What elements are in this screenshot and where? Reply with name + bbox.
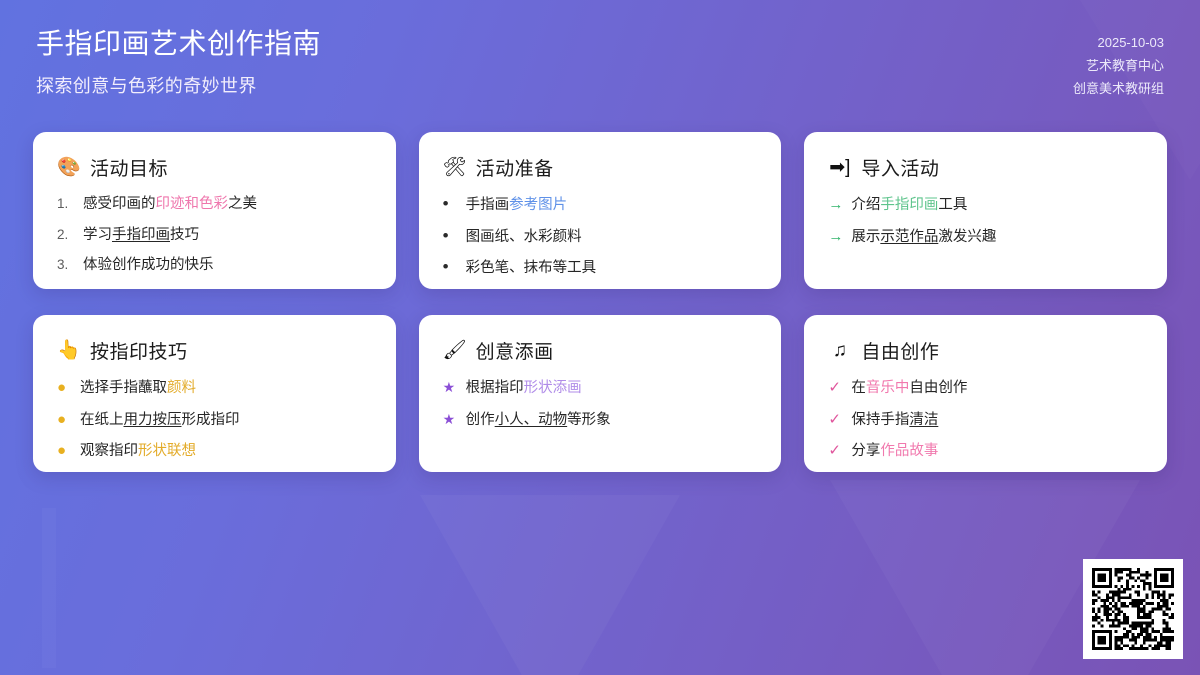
list-item: ✓在音乐中自由创作: [828, 378, 1143, 399]
tools-icon: 🛠: [443, 158, 466, 177]
card-header: 🖌创意添画: [443, 337, 758, 364]
card-music-note: ♫自由创作✓在音乐中自由创作✓保持手指清洁✓分享作品故事: [804, 315, 1167, 472]
text-segment: 自由创作: [909, 380, 967, 396]
list-marker: ✓: [828, 410, 843, 430]
card-tools: 🛠活动准备•手指画参考图片•图画纸、水彩颜料•彩色笔、抹布等工具: [419, 132, 782, 289]
text-segment: 创作: [466, 412, 495, 428]
arrow-into-bracket-icon: ➡]: [828, 158, 851, 177]
list-marker: •: [443, 227, 458, 244]
card-item-list: ●选择手指蘸取颜料●在纸上用力按压形成指印●观察指印形状联想: [57, 378, 372, 462]
list-item-text: 在音乐中自由创作: [851, 379, 967, 399]
list-item: →展示示范作品激发兴趣: [828, 227, 1143, 248]
text-segment: 形状联想: [138, 443, 196, 459]
text-segment: 之美: [228, 196, 257, 212]
list-marker: ★: [443, 378, 458, 397]
list-item: •手指画参考图片: [443, 195, 758, 216]
list-item: ●观察指印形状联想: [57, 441, 372, 462]
list-marker: •: [443, 195, 458, 212]
list-marker: ✓: [828, 441, 843, 461]
text-segment: 感受印画的: [83, 196, 156, 212]
music-note-icon: ♫: [828, 341, 851, 360]
text-segment: 工具: [938, 197, 967, 213]
list-marker: 2.: [57, 226, 75, 244]
card-header: ♫自由创作: [828, 337, 1143, 364]
text-segment: 介绍: [851, 197, 880, 213]
text-segment: 观察指印: [80, 443, 138, 459]
text-segment: 清洁: [909, 412, 938, 428]
page-title: 手指印画艺术创作指南: [36, 26, 321, 62]
list-item: •彩色笔、抹布等工具: [443, 258, 758, 279]
text-segment: 手指印画: [112, 227, 170, 243]
text-segment: 示范作品: [880, 229, 938, 245]
card-header: 🛠活动准备: [443, 154, 758, 181]
text-segment: 分享: [851, 443, 880, 459]
page-header: 手指印画艺术创作指南 探索创意与色彩的奇妙世界 2025-10-03 艺术教育中…: [0, 0, 1200, 132]
text-segment: 体验创作成功的快乐: [83, 257, 214, 273]
qr-code[interactable]: [1083, 559, 1183, 659]
card-item-list: →介绍手指印画工具→展示示范作品激发兴趣: [828, 195, 1143, 247]
card-title: 活动准备: [476, 154, 554, 181]
palette-icon: 🎨: [57, 158, 80, 177]
text-segment: 在: [851, 380, 866, 396]
paintbrush-icon: 🖌: [443, 341, 466, 360]
card-paintbrush: 🖌创意添画★根据指印形状添画★创作小人、动物等形象: [419, 315, 782, 472]
list-item: ✓分享作品故事: [828, 441, 1143, 462]
list-marker: 1.: [57, 195, 75, 213]
card-title: 活动目标: [90, 154, 168, 181]
text-segment: 颜料: [167, 380, 196, 396]
card-item-list: •手指画参考图片•图画纸、水彩颜料•彩色笔、抹布等工具: [443, 195, 758, 279]
text-segment: 作品故事: [880, 443, 938, 459]
list-item-text: 彩色笔、抹布等工具: [466, 259, 597, 279]
list-item-text: 观察指印形状联想: [80, 442, 196, 462]
list-item: 2.学习手指印画技巧: [57, 226, 372, 246]
card-header: 🎨活动目标: [57, 154, 372, 181]
text-segment: 在纸上: [80, 412, 124, 428]
list-marker: →: [828, 227, 843, 247]
list-item: 3.体验创作成功的快乐: [57, 256, 372, 276]
list-marker: 3.: [57, 256, 75, 274]
text-segment: 手指印画: [880, 197, 938, 213]
text-segment: 彩色笔、抹布等工具: [466, 260, 597, 276]
list-marker: →: [828, 195, 843, 215]
list-item-text: 创作小人、动物等形象: [466, 411, 611, 431]
cards-grid: 🎨活动目标1.感受印画的印迹和色彩之美2.学习手指印画技巧3.体验创作成功的快乐…: [33, 132, 1167, 472]
text-segment: 等形象: [567, 412, 611, 428]
list-item: →介绍手指印画工具: [828, 195, 1143, 216]
text-segment: 小人、动物: [495, 412, 568, 428]
card-header: ➡]导入活动: [828, 154, 1143, 181]
list-item-text: 保持手指清洁: [851, 411, 938, 431]
card-item-list: ✓在音乐中自由创作✓保持手指清洁✓分享作品故事: [828, 378, 1143, 462]
list-item-text: 介绍手指印画工具: [851, 196, 967, 216]
fingerprint-icon: 👆: [57, 341, 80, 360]
card-title: 自由创作: [861, 337, 939, 364]
text-segment: 印迹和色彩: [156, 196, 229, 212]
text-segment: 保持手指: [851, 412, 909, 428]
text-segment: 形成指印: [182, 412, 240, 428]
list-marker: ●: [57, 410, 72, 430]
list-item: ★创作小人、动物等形象: [443, 410, 758, 431]
text-segment: 学习: [83, 227, 112, 243]
text-segment: 形状添画: [524, 380, 582, 396]
list-item-text: 展示示范作品激发兴趣: [851, 228, 996, 248]
text-segment: 展示: [851, 229, 880, 245]
list-marker: ●: [57, 441, 72, 461]
text-segment: 根据指印: [466, 380, 524, 396]
text-segment: 参考图片: [509, 197, 567, 213]
list-item-text: 感受印画的印迹和色彩之美: [83, 195, 257, 215]
list-item: •图画纸、水彩颜料: [443, 227, 758, 248]
header-titles: 手指印画艺术创作指南 探索创意与色彩的奇妙世界: [36, 26, 321, 98]
list-item: ●选择手指蘸取颜料: [57, 378, 372, 399]
card-arrow-into-bracket: ➡]导入活动→介绍手指印画工具→展示示范作品激发兴趣: [804, 132, 1167, 289]
card-header: 👆按指印技巧: [57, 337, 372, 364]
list-item: ✓保持手指清洁: [828, 410, 1143, 431]
list-item: 1.感受印画的印迹和色彩之美: [57, 195, 372, 215]
text-segment: 选择手指蘸取: [80, 380, 167, 396]
header-meta: 2025-10-03 艺术教育中心 创意美术教研组: [1073, 26, 1164, 100]
card-title: 按指印技巧: [90, 337, 188, 364]
text-segment: 技巧: [170, 227, 199, 243]
list-item-text: 根据指印形状添画: [466, 379, 582, 399]
card-palette: 🎨活动目标1.感受印画的印迹和色彩之美2.学习手指印画技巧3.体验创作成功的快乐: [33, 132, 396, 289]
list-item-text: 选择手指蘸取颜料: [80, 379, 196, 399]
text-segment: 音乐中: [866, 380, 910, 396]
card-title: 创意添画: [476, 337, 554, 364]
list-item-text: 手指画参考图片: [466, 196, 568, 216]
page-subtitle: 探索创意与色彩的奇妙世界: [36, 72, 321, 98]
list-item: ★根据指印形状添画: [443, 378, 758, 399]
card-fingerprint: 👆按指印技巧●选择手指蘸取颜料●在纸上用力按压形成指印●观察指印形状联想: [33, 315, 396, 472]
card-item-list: 1.感受印画的印迹和色彩之美2.学习手指印画技巧3.体验创作成功的快乐: [57, 195, 372, 276]
header-org: 艺术教育中心: [1073, 55, 1164, 78]
header-date: 2025-10-03: [1073, 32, 1164, 55]
list-marker: ★: [443, 410, 458, 429]
qr-code-image: [1092, 568, 1174, 650]
list-item-text: 学习手指印画技巧: [83, 226, 199, 246]
deco-triangle: [420, 495, 680, 675]
list-item-text: 在纸上用力按压形成指印: [80, 411, 240, 431]
list-marker: ●: [57, 378, 72, 398]
header-dept: 创意美术教研组: [1073, 78, 1164, 101]
card-title: 导入活动: [861, 154, 939, 181]
list-marker: ✓: [828, 378, 843, 398]
text-segment: 图画纸、水彩颜料: [466, 229, 582, 245]
text-segment: 手指画: [466, 197, 510, 213]
text-segment: 激发兴趣: [938, 229, 996, 245]
card-item-list: ★根据指印形状添画★创作小人、动物等形象: [443, 378, 758, 430]
list-item-text: 体验创作成功的快乐: [83, 256, 214, 276]
text-segment: 用力按压: [124, 412, 182, 428]
list-item-text: 图画纸、水彩颜料: [466, 228, 582, 248]
deco-stripe: [42, 508, 56, 668]
list-item: ●在纸上用力按压形成指印: [57, 410, 372, 431]
list-item-text: 分享作品故事: [851, 442, 938, 462]
list-marker: •: [443, 258, 458, 275]
